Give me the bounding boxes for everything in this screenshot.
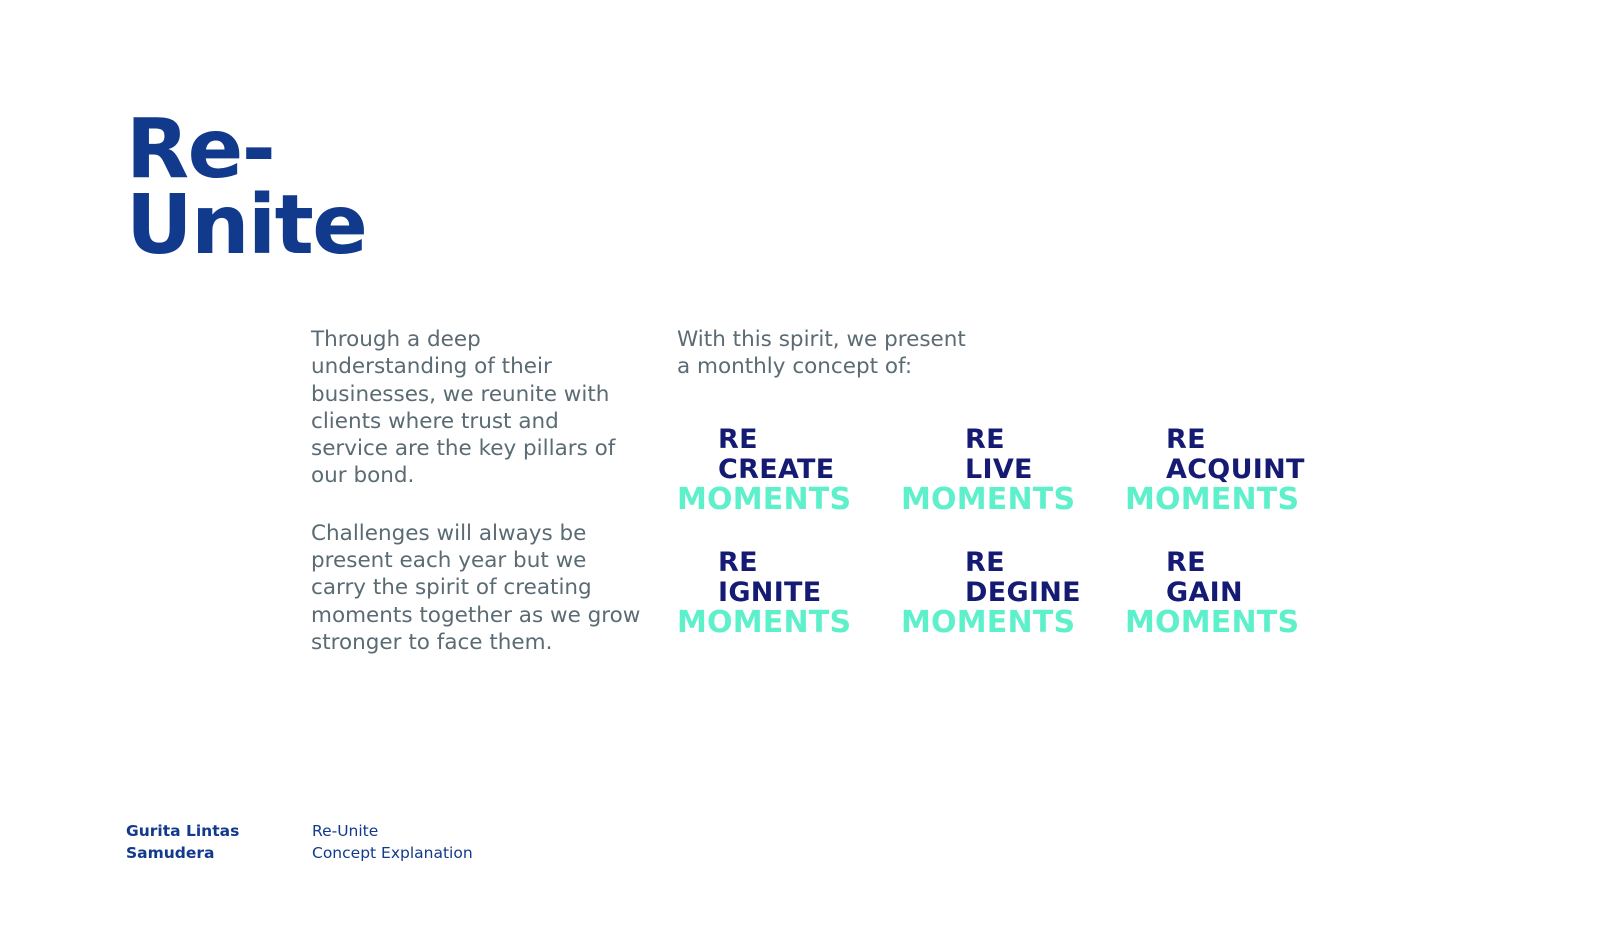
keyword-verb: ACQUINT <box>1125 457 1305 483</box>
keyword-prefix: RE <box>1125 550 1299 576</box>
keyword-moments: MOMENTS <box>1125 486 1305 515</box>
keyword-moments: MOMENTS <box>901 609 1081 638</box>
keyword-moments: MOMENTS <box>677 486 851 515</box>
keyword-moments: MOMENTS <box>1125 609 1299 638</box>
keyword-verb: IGNITE <box>677 580 851 606</box>
concept-intro-text: With this spirit, we present a monthly c… <box>677 326 967 381</box>
keyword-prefix: RE <box>677 550 851 576</box>
slide-canvas: Re- Unite Through a deep understanding o… <box>0 0 1600 933</box>
keyword-stack: RE CREATE MOMENTS <box>677 427 851 515</box>
keyword-stack: RE ACQUINT MOMENTS <box>1125 427 1305 515</box>
keyword-stack: RE GAIN MOMENTS <box>1125 550 1299 638</box>
keyword-verb: LIVE <box>901 457 1075 483</box>
keyword-block-relive: RE LIVE MOMENTS <box>901 427 1125 550</box>
page-title: Re- Unite <box>126 112 366 265</box>
keyword-block-recreate: RE CREATE MOMENTS <box>677 427 901 550</box>
right-text-column: With this spirit, we present a monthly c… <box>677 326 1377 381</box>
body-paragraph-2: Challenges will always be present each y… <box>311 520 641 656</box>
keyword-block-regain: RE GAIN MOMENTS <box>1125 550 1349 673</box>
keyword-verb: CREATE <box>677 457 851 483</box>
keyword-verb: GAIN <box>1125 580 1299 606</box>
body-paragraph-1: Through a deep understanding of their bu… <box>311 326 641 490</box>
keyword-verb: DEGINE <box>901 580 1081 606</box>
keyword-prefix: RE <box>677 427 851 453</box>
keyword-stack: RE DEGINE MOMENTS <box>901 550 1081 638</box>
keyword-moments: MOMENTS <box>677 609 851 638</box>
keyword-prefix: RE <box>1125 427 1305 453</box>
keyword-stack: RE IGNITE MOMENTS <box>677 550 851 638</box>
keyword-prefix: RE <box>901 550 1081 576</box>
footer-deck-meta: Re-Unite Concept Explanation <box>312 820 473 864</box>
keyword-block-reignite: RE IGNITE MOMENTS <box>677 550 901 673</box>
footer-brand-name: Gurita Lintas Samudera <box>126 820 312 864</box>
slide-footer: Gurita Lintas Samudera Re-Unite Concept … <box>126 820 473 864</box>
concept-keyword-grid: RE CREATE MOMENTS RE LIVE MOMENTS RE ACQ… <box>677 427 1377 673</box>
keyword-block-redegine: RE DEGINE MOMENTS <box>901 550 1125 673</box>
keyword-stack: RE LIVE MOMENTS <box>901 427 1075 515</box>
keyword-moments: MOMENTS <box>901 486 1075 515</box>
left-text-column: Through a deep understanding of their bu… <box>311 326 641 656</box>
keyword-block-reacquint: RE ACQUINT MOMENTS <box>1125 427 1349 550</box>
keyword-prefix: RE <box>901 427 1075 453</box>
